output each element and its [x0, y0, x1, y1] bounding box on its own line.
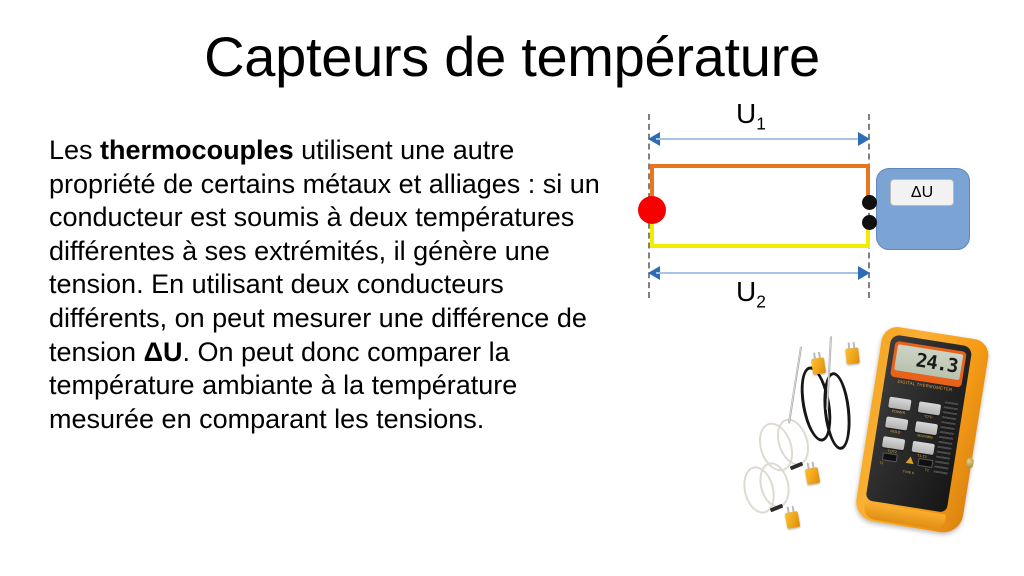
jack-label-t2: T2 [924, 468, 929, 473]
hot-junction-dot-icon [638, 196, 666, 224]
device-side-screw-icon [966, 457, 974, 468]
thermocouple-connector-2 [845, 347, 860, 364]
arrow-head-right-icon [858, 266, 870, 280]
device-button-pad: POWER °C/°F HOLD MAX/MIN T1/T2 [882, 397, 941, 456]
digital-thermometer-device: 24.3 DIGITAL THERMOMETER POWER °C/°F HOL… [853, 325, 990, 535]
text-lead: Les [49, 135, 100, 165]
device-jack-area: T1 TYPE K T2 [877, 452, 944, 488]
label-u1: U1 [736, 98, 766, 135]
device-button-hold-label: HOLD [884, 428, 906, 435]
device-button-hold[interactable]: HOLD [885, 416, 908, 430]
device-button-t1t2[interactable]: T1/T2 [882, 436, 905, 450]
device-button-unit[interactable]: °C/°F [918, 401, 941, 415]
arrow-line [656, 138, 862, 140]
body-paragraph: Les thermocouples utilisent une autre pr… [49, 134, 617, 436]
label-u1-subscript: 1 [756, 114, 766, 134]
label-u2-subscript: 2 [756, 292, 766, 312]
lcd-screen: 24.3 [894, 344, 963, 380]
device-button-t1-minus-t2[interactable]: T1-T2 [911, 441, 934, 455]
jack-label-type: TYPE K [902, 469, 915, 475]
device-button-power[interactable]: POWER [888, 397, 911, 411]
thermocouple-connector-1 [811, 357, 826, 375]
label-u2-base: U [736, 276, 756, 307]
warning-triangle-icon [906, 456, 915, 464]
presentation-slide: Capteurs de température Les thermocouple… [0, 0, 1024, 576]
device-button-power-label: POWER [887, 408, 909, 415]
device-button-maxmin-label: MAX/MIN [914, 432, 936, 439]
arrow-head-right-icon [858, 132, 870, 146]
thermocouple-jack-t2[interactable] [917, 458, 933, 468]
thermocouple-connector-3 [805, 467, 821, 485]
device-button-unit-label: °C/°F [917, 413, 939, 420]
arrow-line [656, 272, 862, 274]
page-title: Capteurs de température [0, 28, 1024, 87]
thermocouple-circuit-diagram: U1 ΔU U2 [622, 106, 982, 306]
jack-label-t1: T1 [879, 461, 884, 466]
thermocouple-connector-4 [785, 511, 801, 529]
meter-terminal-top-icon [862, 195, 877, 210]
conductor-2-bottom-segment [650, 244, 870, 248]
thermocouple-jack-t1[interactable] [882, 452, 898, 462]
conductor-1-top-segment [650, 164, 870, 168]
thermocouple-thermometer-photo: 24.3 DIGITAL THERMOMETER POWER °C/°F HOL… [742, 326, 1024, 566]
lcd-temperature-value: 24.3 [915, 351, 959, 376]
bold-term-thermocouples: thermocouples [100, 135, 294, 165]
label-u1-base: U [736, 98, 756, 129]
voltage-meter-display: ΔU [890, 179, 954, 206]
meter-terminal-bottom-icon [862, 215, 877, 230]
device-button-maxmin[interactable]: MAX/MIN [915, 421, 938, 435]
label-u2: U2 [736, 276, 766, 313]
bold-symbol-delta-u: ΔU [144, 337, 183, 367]
text-part-1: utilisent une autre propriété de certain… [49, 135, 600, 367]
